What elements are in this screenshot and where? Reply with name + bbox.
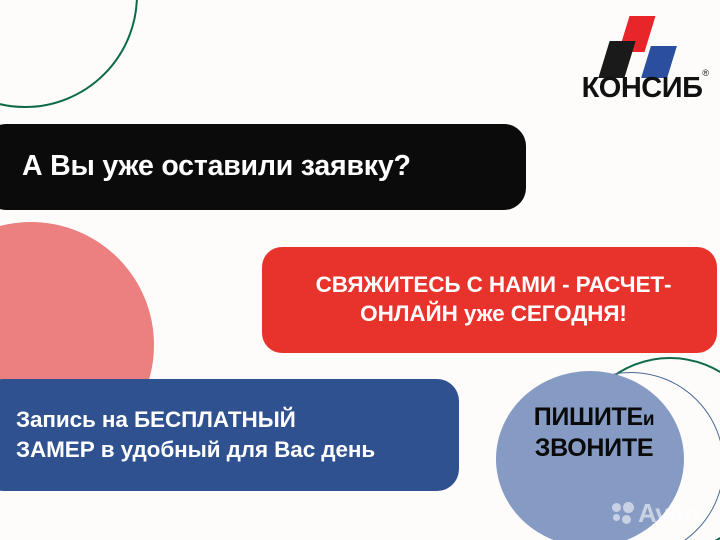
logo-parallelograms-icon (574, 16, 710, 68)
poster-canvas: КОНСИБ ® А Вы уже оставили заявку? СВЯЖИ… (0, 0, 720, 540)
logo-wordmark: КОНСИБ (574, 74, 710, 103)
contact-banner-line-1: СВЯЖИТЕСЬ С НАМИ - РАСЧЕТ- (316, 272, 672, 297)
callout-line-1-main: ПИШИТЕ (534, 403, 643, 431)
brand-logo: КОНСИБ ® (574, 16, 710, 108)
contact-banner-text: СВЯЖИТЕСЬ С НАМИ - РАСЧЕТ- ОНЛАЙН уже СЕ… (316, 271, 672, 329)
question-banner-text: А Вы уже оставили заявку? (22, 151, 411, 182)
callout-line-2: ЗВОНИТЕ (535, 434, 653, 462)
free-measurement-line-1: Запись на БЕСПЛАТНЫЙ (16, 407, 296, 432)
avito-watermark: Avito (612, 500, 699, 526)
registered-trademark-icon: ® (702, 69, 709, 78)
free-measurement-line-2: ЗАМЕР в удобный для Вас день (16, 437, 375, 462)
callout-line-1-conjunction: и (643, 409, 654, 430)
free-measurement-banner-text: Запись на БЕСПЛАТНЫЙ ЗАМЕР в удобный для… (16, 405, 375, 465)
avito-dots-icon (612, 502, 634, 524)
contact-banner-line-2: ОНЛАЙН уже СЕГОДНЯ! (360, 301, 627, 326)
question-banner: А Вы уже оставили заявку? (0, 124, 526, 210)
decorative-ring-top-left-icon (0, 0, 138, 108)
avito-watermark-label: Avito (638, 500, 699, 526)
free-measurement-banner: Запись на БЕСПЛАТНЫЙ ЗАМЕР в удобный для… (0, 379, 459, 491)
contact-banner: СВЯЖИТЕСЬ С НАМИ - РАСЧЕТ- ОНЛАЙН уже СЕ… (262, 247, 717, 353)
write-and-call-callout: ПИШИТЕи ЗВОНИТЕ (496, 402, 692, 465)
